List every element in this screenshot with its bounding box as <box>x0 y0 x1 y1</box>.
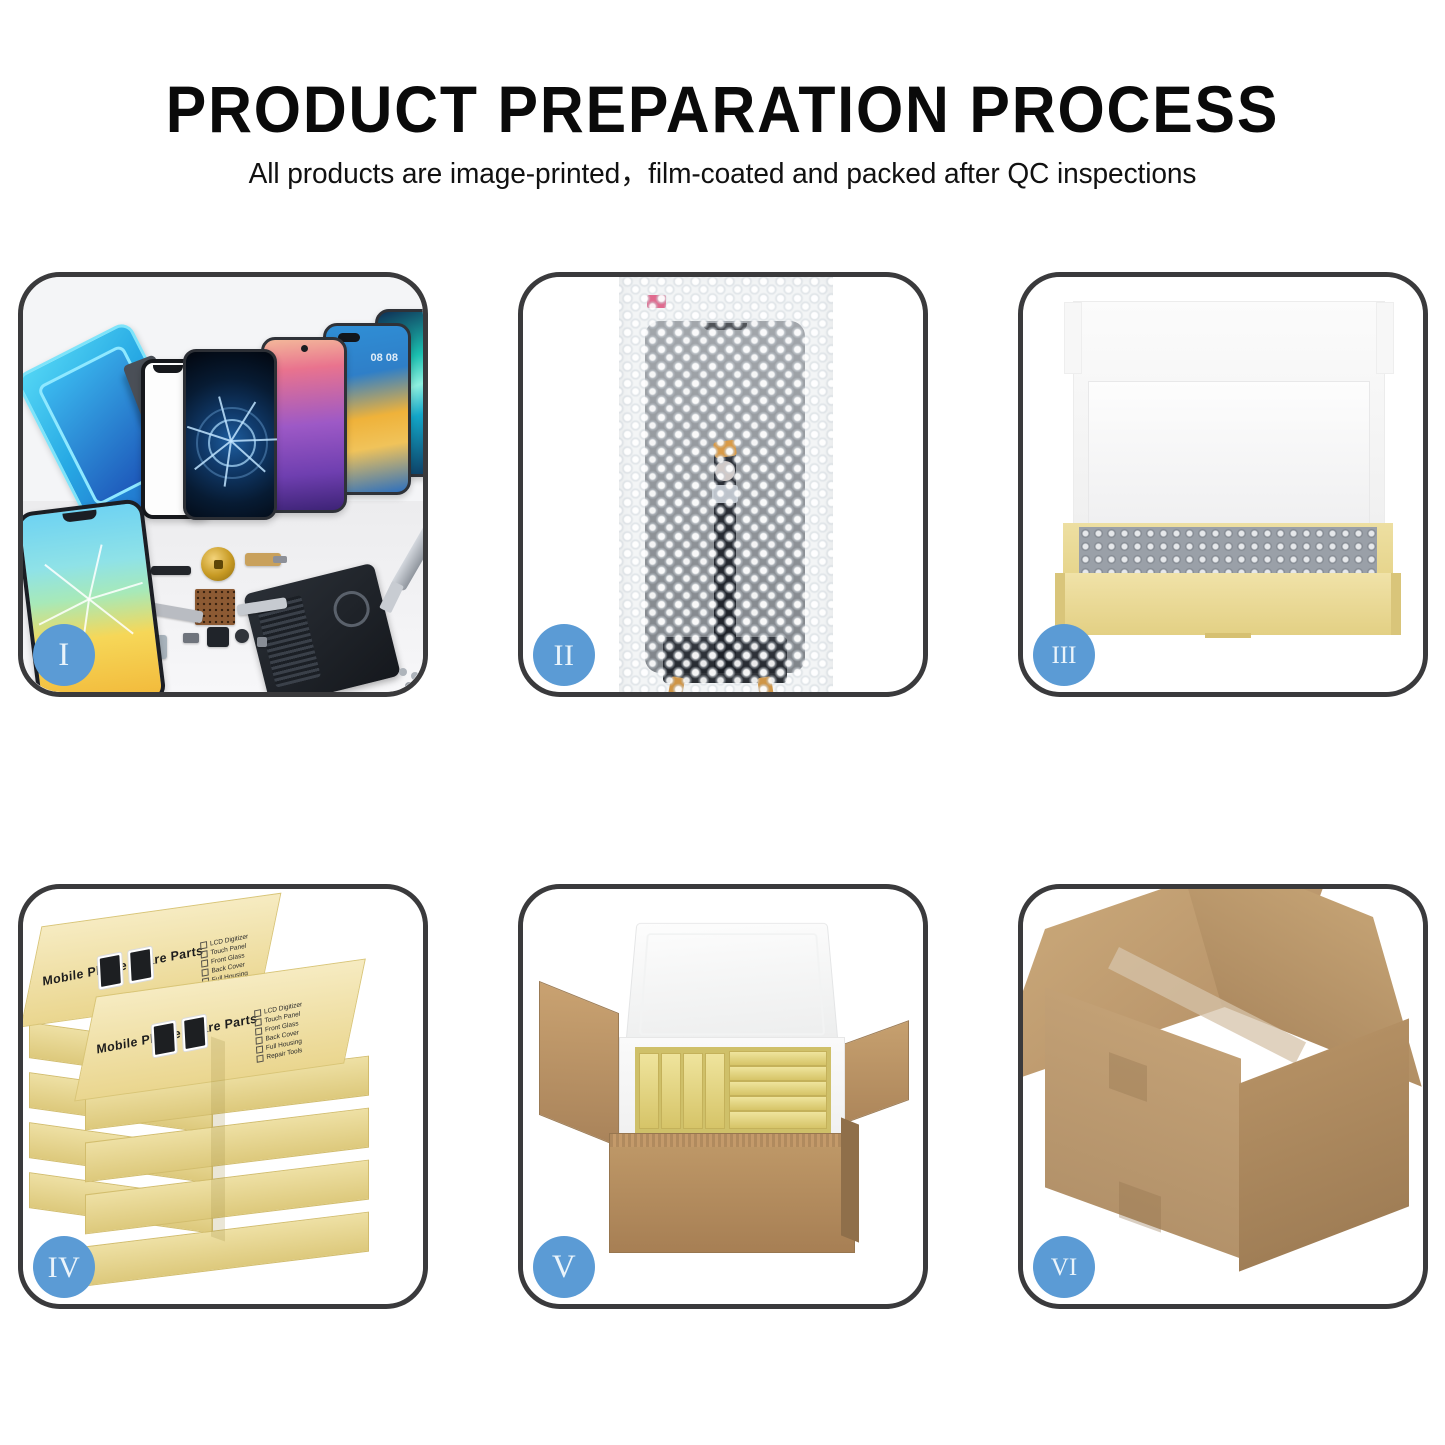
stack-side-shading <box>211 1036 225 1241</box>
box-front-wall <box>1063 573 1393 635</box>
header: PRODUCT PREPARATION PROCESS All products… <box>0 0 1445 191</box>
step-panel: 08 08 <box>18 272 428 697</box>
process-step-5: V <box>518 884 928 1309</box>
bubble-wrap-sleeve <box>619 277 833 692</box>
yellow-box-row <box>705 1053 725 1129</box>
phone-clock: 08 08 <box>370 352 398 364</box>
bubble-texture <box>619 277 833 692</box>
taptic-engine-part <box>201 547 235 581</box>
gray-bubble-wrap-fill <box>1079 527 1377 577</box>
small-component-part <box>257 637 267 647</box>
process-step-4: Mobile Phone Spare Parts LCD Digitizer T… <box>18 884 428 1309</box>
process-step-6: VI <box>1018 884 1428 1309</box>
step-badge-6: VI <box>1033 1236 1095 1298</box>
process-step-1: 08 08 <box>18 272 428 697</box>
yellow-box-row <box>729 1096 827 1111</box>
checkbox-icon <box>256 1036 263 1044</box>
checkbox-icon <box>200 941 207 949</box>
step-panel: V <box>518 884 928 1309</box>
product-preparation-infographic: PRODUCT PREPARATION PROCESS All products… <box>0 0 1445 1445</box>
box-lock-tab <box>1205 633 1251 638</box>
checkbox-icon <box>256 1054 263 1062</box>
white-foam-sheet <box>1088 381 1370 535</box>
phone-thumbnail <box>97 951 124 990</box>
crack-line <box>88 599 133 635</box>
yellow-box-row <box>639 1053 659 1129</box>
yellow-box-row <box>683 1053 703 1129</box>
step-panel: III <box>1018 272 1428 697</box>
checkbox-icon <box>255 1018 262 1026</box>
checkbox-icon <box>255 1027 262 1035</box>
camera-lens-part <box>235 629 249 643</box>
yellow-box-row <box>661 1053 681 1129</box>
small-component-part <box>183 633 199 643</box>
box-checklist-front: LCD Digitizer Touch Panel Front Glass Ba… <box>254 1000 305 1064</box>
yellow-boxes-inside <box>635 1047 831 1133</box>
process-step-2: II <box>518 272 928 697</box>
carton-side-wall <box>841 1117 859 1242</box>
step-panel: II <box>518 272 928 697</box>
checkbox-icon <box>256 1045 263 1053</box>
process-step-3: III <box>1018 272 1428 697</box>
step-badge-2: II <box>533 624 595 686</box>
phone-thumbnail <box>151 1019 178 1058</box>
step-panel: Mobile Phone Spare Parts LCD Digitizer T… <box>18 884 428 1309</box>
screws-part <box>399 668 407 676</box>
step-badge-3: III <box>1033 624 1095 686</box>
step-badge-4: IV <box>33 1236 95 1298</box>
step-badge-1: I <box>33 624 95 686</box>
crack-line <box>88 545 103 600</box>
process-step-grid: 08 08 <box>18 272 1428 1317</box>
camera-module-part <box>207 627 229 647</box>
checkbox-icon <box>201 950 208 958</box>
yellow-box-row <box>729 1051 827 1066</box>
crack-line <box>44 564 89 600</box>
yellow-box-row <box>729 1081 827 1096</box>
crack-line <box>38 598 89 625</box>
checkbox-icon <box>254 1009 261 1017</box>
step-badge-5: V <box>533 1236 595 1298</box>
carton-front-wall <box>609 1133 855 1253</box>
flex-cable-part <box>245 553 281 566</box>
phone-thumbnail <box>181 1013 208 1052</box>
foam-box-lid <box>625 923 839 1048</box>
yellow-box-row <box>729 1066 827 1081</box>
crack-line <box>88 582 142 600</box>
step-panel: VI <box>1018 884 1428 1309</box>
cracked-iphone-display <box>183 349 277 520</box>
phone-thumbnail <box>127 945 154 984</box>
checkbox-icon <box>201 959 208 967</box>
earpiece-speaker-part <box>151 566 191 575</box>
page-title: PRODUCT PREPARATION PROCESS <box>58 0 1387 144</box>
page-subtitle: All products are image-printed，film-coat… <box>11 144 1434 191</box>
checkbox-icon <box>202 968 209 976</box>
yellow-box-row <box>729 1111 827 1129</box>
